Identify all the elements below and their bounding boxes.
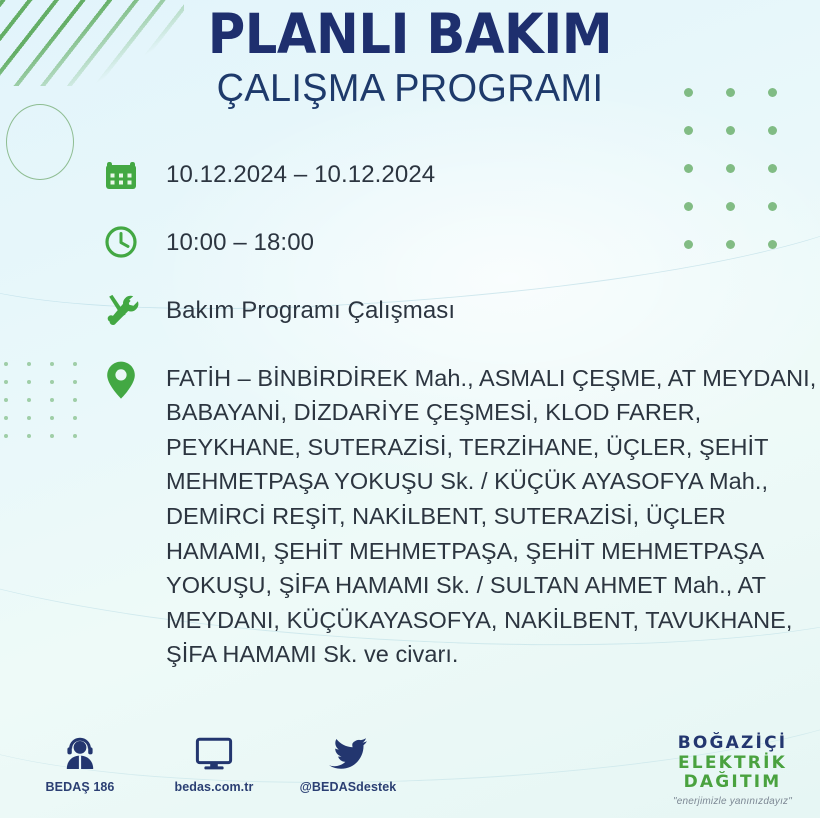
contact-phone-label: BEDAŞ 186 (28, 780, 132, 794)
page-title: PLANLI BAKIM (29, 6, 792, 63)
tools-icon (100, 289, 142, 331)
maintenance-time-range: 10:00 – 18:00 (166, 221, 314, 259)
logo-slogan: "enerjimizle yanınızdayız" (673, 796, 792, 807)
logo-line-dagitim: DAĞITIM (673, 773, 792, 793)
location-pin-icon (100, 359, 142, 401)
contact-website[interactable]: bedas.com.tr (162, 732, 266, 794)
logo-line-bogazici: BOĞAZİÇİ (673, 734, 792, 754)
clock-icon (100, 221, 142, 263)
contact-channels: BEDAŞ 186 bedas.com.tr (28, 732, 400, 794)
twitter-bird-icon (296, 732, 400, 776)
call-center-agent-icon (28, 732, 132, 776)
contact-twitter[interactable]: @BEDASdestek (296, 732, 400, 794)
contact-website-label: bedas.com.tr (162, 780, 266, 794)
maintenance-date-range: 10.12.2024 – 10.12.2024 (166, 153, 435, 191)
detail-row-time: 10:00 – 18:00 (100, 221, 820, 263)
contact-twitter-label: @BEDASdestek (296, 780, 400, 794)
maintenance-details: 10.12.2024 – 10.12.2024 10:00 – 18:00 (0, 153, 820, 672)
contact-phone[interactable]: BEDAŞ 186 (28, 732, 132, 794)
detail-row-work-type: Bakım Programı Çalışması (100, 289, 820, 331)
page-subtitle: ÇALIŞMA PROGRAMI (12, 67, 807, 111)
planned-maintenance-poster: PLANLI BAKIM ÇALIŞMA PROGRAMI 10.12.2024… (0, 0, 820, 818)
maintenance-work-type: Bakım Programı Çalışması (166, 289, 455, 327)
logo-line-elektrik: ELEKTRİK (673, 754, 792, 774)
detail-row-date: 10.12.2024 – 10.12.2024 (100, 153, 820, 195)
maintenance-address-list: FATİH – BİNBİRDİREK Mah., ASMALI ÇEŞME, … (166, 357, 820, 672)
calendar-icon (100, 153, 142, 195)
poster-header: PLANLI BAKIM ÇALIŞMA PROGRAMI (0, 0, 820, 111)
monitor-icon (162, 732, 266, 776)
detail-row-address: FATİH – BİNBİRDİREK Mah., ASMALI ÇEŞME, … (100, 357, 820, 672)
poster-footer: BEDAŞ 186 bedas.com.tr (0, 726, 820, 818)
bogazici-elektrik-dagitim-logo: BOĞAZİÇİ ELEKTRİK DAĞITIM "enerjimizle y… (673, 732, 806, 807)
